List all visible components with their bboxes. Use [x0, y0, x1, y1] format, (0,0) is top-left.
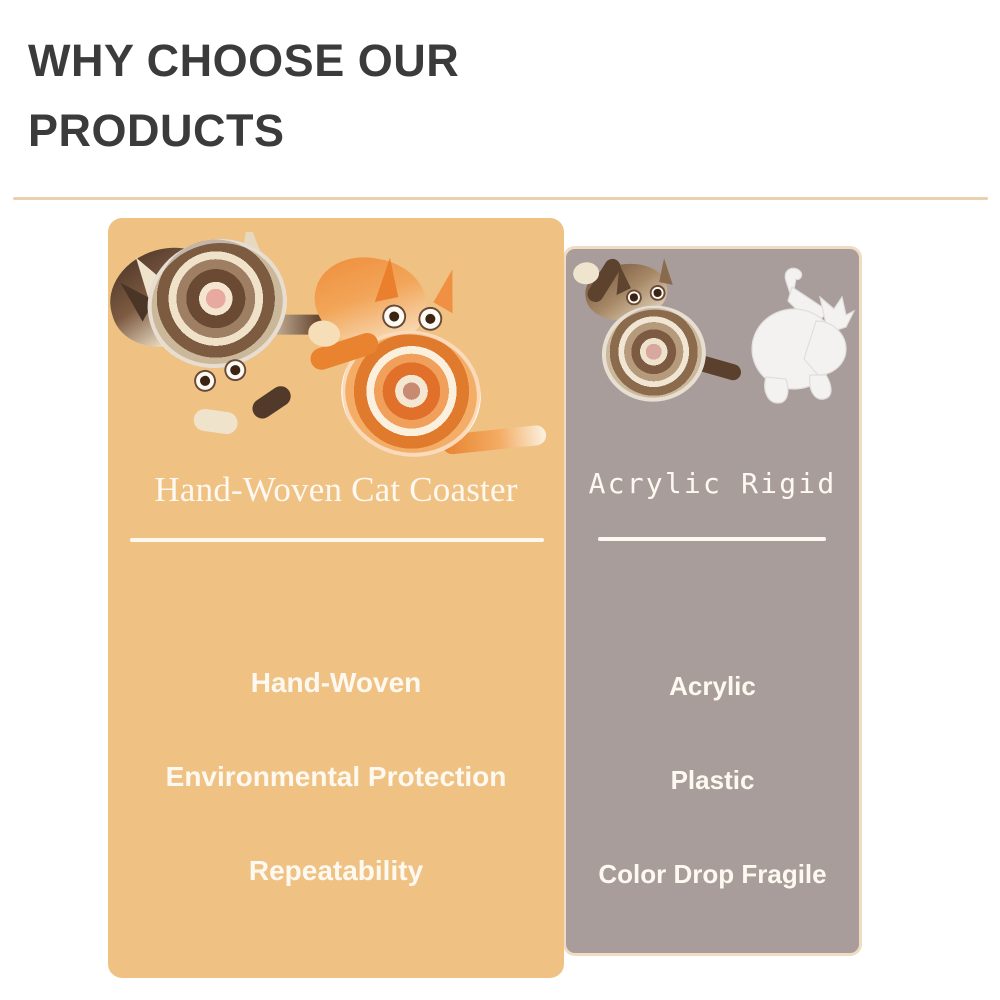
cat-ear-right: [659, 258, 678, 284]
feature-item: Acrylic: [566, 639, 859, 733]
feature-item: Environmental Protection: [108, 730, 564, 824]
product-card-acrylic-rigid[interactable]: Acrylic Rigid Acrylic Plastic Color Drop…: [563, 246, 862, 956]
product-card-title-acrylic-rigid: Acrylic Rigid: [566, 467, 859, 500]
product-card-hand-woven[interactable]: Hand-Woven Cat Coaster Hand-Woven Enviro…: [108, 218, 564, 978]
cat-ear-right: [433, 269, 471, 313]
product-card-media-acrylic-rigid: [566, 249, 859, 414]
comparison-section: Hand-Woven Cat Coaster Hand-Woven Enviro…: [0, 0, 1000, 1000]
cat-eye-left: [191, 367, 218, 394]
cat-leg-right: [249, 382, 295, 422]
title-underline: [598, 537, 826, 541]
feature-item: Repeatability: [108, 824, 564, 918]
orange-crochet-cat-coaster-icon: [288, 249, 531, 464]
feature-list-acrylic-rigid: Acrylic Plastic Color Drop Fragile: [566, 639, 859, 921]
small-crochet-cat-coaster-icon: [583, 254, 736, 414]
product-card-title-hand-woven: Hand-Woven Cat Coaster: [108, 470, 564, 510]
feature-item: Color Drop Fragile: [566, 827, 859, 921]
product-card-media-hand-woven: [108, 232, 564, 464]
feature-item: Plastic: [566, 733, 859, 827]
cat-leg-left: [192, 408, 239, 436]
feature-item: Hand-Woven: [108, 636, 564, 730]
white-acrylic-cat-coaster-icon: [742, 263, 859, 409]
title-underline: [130, 538, 544, 542]
feature-list-hand-woven: Hand-Woven Environmental Protection Repe…: [108, 636, 564, 918]
